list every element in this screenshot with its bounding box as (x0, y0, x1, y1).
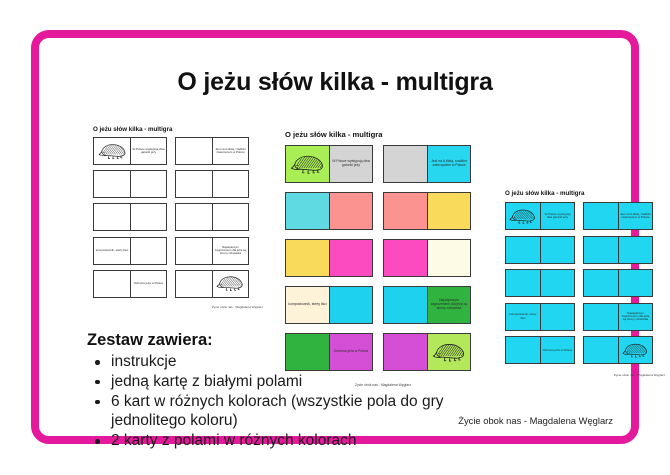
card-grid-cell[interactable] (286, 193, 329, 229)
card-grid-row: W Polsce występują dwa gatunki jeżyJest … (285, 145, 481, 183)
card-grid-cell[interactable]: W Polsce występują dwa gatunki jeży (329, 146, 372, 182)
set-contents-list: instrukcjejedną kartę z białymi polami6 … (87, 352, 507, 451)
card-domino-tile[interactable]: Jest na A-tlistą, rzadkim zwierzęciem w … (383, 145, 471, 183)
card-grid-cell[interactable] (212, 271, 248, 297)
card-domino-tile[interactable] (175, 270, 249, 298)
card-grid-cell[interactable]: kompostownik, sterty liści (286, 287, 329, 323)
card-cell-text: Ochrona jeża w Polsce (542, 348, 574, 353)
set-contents-heading: Zestaw zawiera: (87, 331, 507, 350)
card-grid-cell[interactable] (176, 171, 212, 197)
card-domino-tile[interactable] (583, 269, 653, 297)
card-grid-cell[interactable] (329, 240, 372, 276)
card-grid-cell[interactable]: kompostownik, sterty liści (94, 238, 130, 264)
card-grid-cell[interactable] (329, 193, 372, 229)
card-domino-tile[interactable]: Największym zagrożeniem dla jeża są stro… (583, 303, 653, 331)
card-cell-text: Jest na A-tlistą, rzadkim zwierzęciem w … (428, 159, 470, 169)
hedgehog-icon (621, 340, 649, 361)
page-title: O jeżu słów kilka - multigra (39, 68, 631, 97)
card-color-title: O jeżu słów kilka - multigra (285, 130, 481, 139)
card-cell-text: W Polsce występują dwa gatunki jeży (131, 147, 166, 156)
card-grid-row (285, 192, 481, 230)
card-grid-row (285, 239, 481, 277)
list-item: instrukcje (87, 352, 507, 372)
card-grid-cell[interactable] (212, 171, 248, 197)
card-grid-cell[interactable] (427, 193, 470, 229)
poster-frame: O jeżu słów kilka - multigra O jeżu słów… (31, 30, 639, 444)
card-grid-cell[interactable] (94, 138, 130, 164)
hedgehog-icon (508, 206, 537, 227)
card-cell-text: Ochrona jeża w Polsce (133, 281, 165, 286)
card-grid-cell[interactable] (540, 304, 574, 330)
card-grid-cell[interactable]: Ochrona jeża w Polsce (540, 337, 574, 363)
card-grid-cell[interactable] (384, 146, 427, 182)
card-grid-cell[interactable] (176, 271, 212, 297)
card-grid-row: kompostownik, sterty liściNajwiększym za… (285, 286, 481, 324)
hedgehog-icon (97, 141, 128, 162)
card-grid-cell[interactable]: Jest na A-tlistą, rzadkim zwierzęciem w … (618, 203, 652, 229)
card-domino-tile[interactable] (175, 203, 249, 231)
card-domino-tile[interactable] (583, 236, 653, 264)
card-grid-cell[interactable]: Jest na A-tlistą, rzadkim zwierzęciem w … (427, 146, 470, 182)
set-contents-block: Zestaw zawiera: instrukcjejedną kartę z … (87, 331, 507, 451)
card-grid-cell[interactable] (286, 240, 329, 276)
card-domino-tile[interactable]: W Polsce występują dwa gatunki jeży (505, 202, 575, 230)
card-grid-row: kompostownik, sterty liściNajwiększym za… (93, 237, 263, 265)
card-grid-cell[interactable] (130, 204, 166, 230)
card-cyan-attribution: Życie obok nas - Magdalena Węglarz (505, 373, 665, 377)
card-domino-tile[interactable] (285, 239, 373, 277)
card-grid-cell[interactable] (286, 146, 329, 182)
card-grid-cell[interactable] (540, 270, 574, 296)
card-cell-text: Największym zagrożeniem dla jeża są stro… (619, 311, 652, 323)
card-grid-cell[interactable]: W Polsce występują dwa gatunki jeży (540, 203, 574, 229)
card-grid-cell[interactable] (212, 204, 248, 230)
hedgehog-icon (215, 273, 245, 294)
card-grid-cell[interactable] (584, 304, 618, 330)
card-domino-tile[interactable]: Ochrona jeża w Polsce (505, 336, 575, 364)
card-grid-cell[interactable]: kompostownik, sterty liści (506, 304, 540, 330)
card-domino-tile[interactable]: Ochrona jeża w Polsce (93, 270, 167, 298)
card-grid-cell[interactable] (176, 238, 212, 264)
card-grid-cell[interactable] (584, 237, 618, 263)
card-domino-tile[interactable]: kompostownik, sterty liści (93, 237, 167, 265)
card-grid-cell[interactable] (329, 287, 372, 323)
card-grid-cell[interactable] (427, 240, 470, 276)
card-grid-cell[interactable] (94, 171, 130, 197)
card-grid-cell[interactable] (384, 287, 427, 323)
card-grid-row: Ochrona jeża w Polsce (505, 336, 665, 364)
card-grid-row: Ochrona jeża w Polsce (93, 270, 263, 298)
card-cell-text: W Polsce występują dwa gatunki jeży (541, 212, 574, 221)
card-domino-tile[interactable]: Jest na A-tlistą, rzadkim zwierzęciem w … (175, 137, 249, 165)
hedgehog-icon (289, 150, 326, 179)
card-cell-text: W Polsce występują dwa gatunki jeży (330, 159, 372, 169)
list-item: jedną kartę z białymi polami (87, 372, 507, 392)
card-grid-cell[interactable]: Jest na A-tlistą, rzadkim zwierzęciem w … (212, 138, 248, 164)
poster-footer: Życie obok nas - Magdalena Węglarz (458, 415, 613, 426)
card-grid-cell[interactable] (618, 270, 652, 296)
card-cell-text: Największym zagrożeniem dla jeża są stro… (428, 298, 470, 312)
card-domino-tile[interactable]: W Polsce występują dwa gatunki jeży (285, 145, 373, 183)
card-grid-cell[interactable] (130, 238, 166, 264)
card-cell-text: Jest na A-tlistą, rzadkim zwierzęciem w … (619, 212, 652, 221)
card-domino-tile[interactable] (93, 203, 167, 231)
card-grid-cell[interactable] (94, 271, 130, 297)
card-grid-cell[interactable] (618, 337, 652, 363)
card-domino-tile[interactable]: Jest na A-tlistą, rzadkim zwierzęciem w … (583, 202, 653, 230)
card-domino-tile[interactable] (583, 336, 653, 364)
card-domino-tile[interactable] (175, 170, 249, 198)
card-cell-text: kompostownik, sterty liści (287, 302, 327, 308)
card-domino-tile[interactable] (285, 192, 373, 230)
card-grid-cell[interactable] (618, 237, 652, 263)
card-grid-cell[interactable] (176, 204, 212, 230)
card-grid-cell[interactable] (384, 193, 427, 229)
card-grid-cell[interactable]: Największym zagrożeniem dla jeża są stro… (618, 304, 652, 330)
card-cell-text: Największym zagrożeniem dla jeża są stro… (213, 245, 248, 257)
card-cyan-grid: W Polsce występują dwa gatunki jeżyJest … (505, 202, 665, 370)
card-grid-row (505, 269, 665, 297)
card-grid-cell[interactable]: Największym zagrożeniem dla jeża są stro… (212, 238, 248, 264)
card-grid-cell[interactable]: W Polsce występują dwa gatunki jeży (130, 138, 166, 164)
card-domino-tile[interactable]: Największym zagrożeniem dla jeża są stro… (383, 286, 471, 324)
card-grid-cell[interactable] (176, 138, 212, 164)
card-grid-cell[interactable] (506, 337, 540, 363)
card-grid-row (93, 203, 263, 231)
card-domino-tile[interactable] (383, 192, 471, 230)
card-grid-cell[interactable]: Ochrona jeża w Polsce (130, 271, 166, 297)
card-grid-cell[interactable]: Największym zagrożeniem dla jeża są stro… (427, 287, 470, 323)
card-grid-cell[interactable] (584, 337, 618, 363)
card-grid-row: W Polsce występują dwa gatunki jeżyJest … (505, 202, 665, 230)
card-domino-tile[interactable]: kompostownik, sterty liści (285, 286, 373, 324)
card-grid-cell[interactable] (94, 204, 130, 230)
card-white-grid: W Polsce występują dwa gatunki jeżyJest … (93, 137, 263, 303)
card-preview-cyan: O jeżu słów kilka - multigra W Polsce wy… (505, 190, 665, 390)
card-domino-tile[interactable]: Największym zagrożeniem dla jeża są stro… (175, 237, 249, 265)
list-item: 6 kart w różnych kolorach (wszystkie pol… (87, 392, 507, 432)
card-grid-cell[interactable] (130, 171, 166, 197)
card-domino-tile[interactable] (93, 170, 167, 198)
card-grid-cell[interactable] (584, 203, 618, 229)
card-domino-tile[interactable] (505, 236, 575, 264)
card-domino-tile[interactable]: kompostownik, sterty liści (505, 303, 575, 331)
card-preview-white: O jeżu słów kilka - multigra W Polsce wy… (93, 126, 263, 311)
card-grid-row (93, 170, 263, 198)
card-grid-cell[interactable] (540, 237, 574, 263)
card-cyan-title: O jeżu słów kilka - multigra (505, 190, 665, 197)
card-cell-text: kompostownik, sterty liści (506, 312, 540, 321)
card-domino-tile[interactable]: W Polsce występują dwa gatunki jeży (93, 137, 167, 165)
card-grid-cell[interactable] (506, 270, 540, 296)
card-white-attribution: Życie obok nas - Magdalena Węglarz (93, 305, 263, 309)
list-item: 2 karty z polami w różnych kolorach (87, 431, 507, 451)
card-grid-row (505, 236, 665, 264)
card-grid-cell[interactable] (584, 270, 618, 296)
card-cell-text: Jest na A-tlistą, rzadkim zwierzęciem w … (213, 147, 248, 156)
card-grid-cell[interactable] (384, 240, 427, 276)
card-domino-tile[interactable] (383, 239, 471, 277)
card-grid-cell[interactable] (506, 237, 540, 263)
card-cell-text: kompostownik, sterty liści (95, 248, 130, 253)
card-grid-row: W Polsce występują dwa gatunki jeżyJest … (93, 137, 263, 165)
card-white-title: O jeżu słów kilka - multigra (93, 126, 263, 133)
card-grid-row: kompostownik, sterty liściNajwiększym za… (505, 303, 665, 331)
card-domino-tile[interactable] (505, 269, 575, 297)
card-grid-cell[interactable] (506, 203, 540, 229)
